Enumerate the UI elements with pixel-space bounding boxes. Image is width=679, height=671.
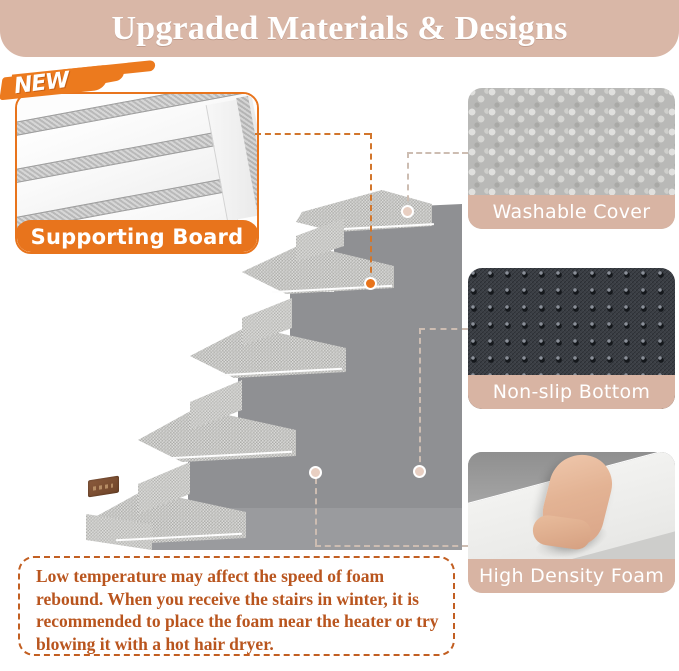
connector-dot-non-slip xyxy=(413,465,426,478)
high-density-foam-caption-bar: High Density Foam xyxy=(468,559,675,593)
connector-foam-h xyxy=(315,545,468,547)
infographic-canvas: Upgraded Materials & Designs Supporting … xyxy=(0,0,679,671)
warning-note-text: Low temperature may affect the speed of … xyxy=(36,565,439,655)
washable-cover-caption-bar: Washable Cover xyxy=(468,195,675,229)
feature-panel-high-density-foam: High Density Foam xyxy=(468,452,675,593)
connector-non-slip-h xyxy=(419,328,468,330)
connector-non-slip-v xyxy=(419,328,421,472)
brand-tag xyxy=(88,476,119,498)
connector-washable-cover-v xyxy=(407,152,409,212)
connector-dot-supporting-board xyxy=(364,277,377,290)
non-slip-bottom-caption-bar: Non-slip Bottom xyxy=(468,375,675,409)
high-density-foam-caption: High Density Foam xyxy=(479,565,664,587)
page-title: Upgraded Materials & Designs xyxy=(111,10,567,48)
feature-panel-washable-cover: Washable Cover xyxy=(468,88,675,229)
feature-panel-non-slip-bottom: Non-slip Bottom xyxy=(468,268,675,409)
header-banner: Upgraded Materials & Designs xyxy=(0,0,679,57)
connector-supporting-board-h xyxy=(255,133,370,135)
non-slip-bottom-caption: Non-slip Bottom xyxy=(493,381,650,403)
new-badge-label: NEW xyxy=(13,68,70,99)
connector-dot-foam xyxy=(309,466,322,479)
new-badge: NEW xyxy=(2,64,110,104)
connector-dot-washable-cover xyxy=(401,205,414,218)
connector-foam-v xyxy=(315,478,317,545)
connector-washable-cover-h xyxy=(407,152,468,154)
washable-cover-caption: Washable Cover xyxy=(493,201,651,223)
connector-supporting-board-v xyxy=(370,133,372,283)
product-image-pet-stairs xyxy=(42,178,462,550)
warning-note-box: Low temperature may affect the speed of … xyxy=(18,556,455,656)
